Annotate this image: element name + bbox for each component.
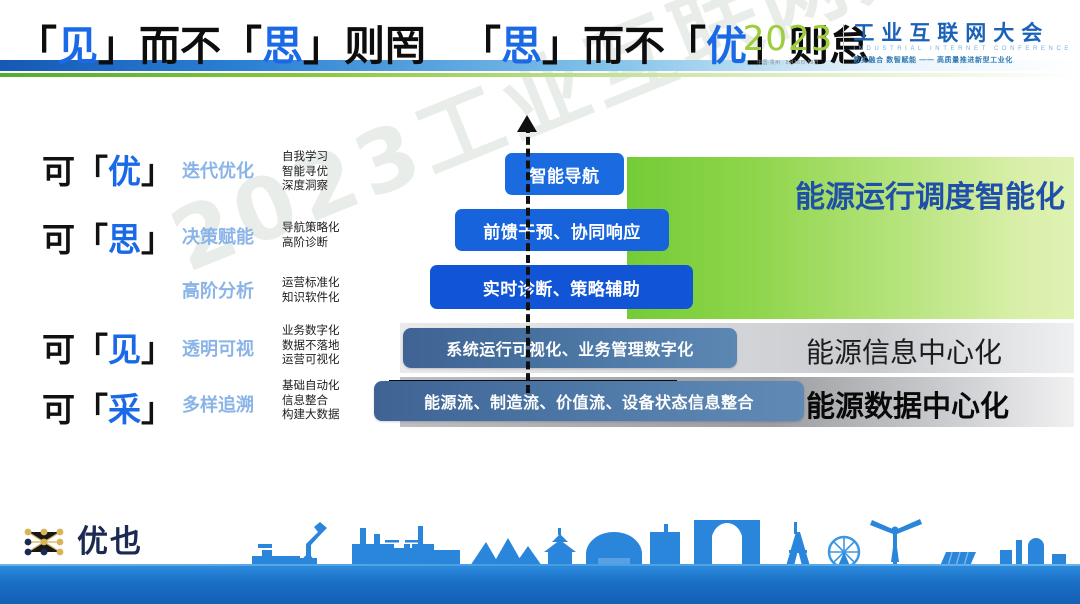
- capability-cai: 多样追溯: [182, 391, 254, 417]
- level-label-cai: 可「采」: [42, 383, 174, 431]
- details-jian: 业务数字化 数据不落地 运营可视化: [282, 323, 340, 367]
- conference-year: 2023: [743, 22, 834, 56]
- capability-gaojie: 高阶分析: [182, 277, 254, 303]
- conference-venue-date: 中国·贵州 · 8月16日-18日: [743, 59, 834, 66]
- title-mid-1: 」而不「: [98, 22, 262, 70]
- title-key-si: 思: [262, 22, 303, 70]
- conference-name-en: INDUSTRIAL INTERNET CONFERENCE: [853, 46, 1072, 52]
- conference-name-cn: 工业互联网大会: [853, 22, 1072, 44]
- title-key-si-2: 思: [501, 22, 542, 70]
- brand-name: 优也: [77, 527, 143, 558]
- detail-item: 基础自动化: [282, 378, 340, 393]
- detail-item: 高阶诊断: [282, 235, 340, 250]
- level-label-si: 可「思」: [42, 213, 174, 261]
- level-label-si-text: 可「思」: [42, 213, 174, 261]
- capability-jian: 透明可视: [182, 335, 254, 361]
- title-key-you: 优: [706, 22, 747, 70]
- level-label-you-text: 可「优」: [42, 145, 174, 193]
- brand-logo: 优也: [22, 526, 143, 558]
- detail-item: 业务数字化: [282, 323, 340, 338]
- chip-realtime-diagnosis[interactable]: 实时诊断、策略辅助: [430, 265, 693, 309]
- detail-item: 深度洞察: [282, 178, 328, 193]
- level-label-you: 可「优」: [42, 145, 174, 193]
- label-info-center: 能源信息中心化: [806, 331, 1002, 371]
- green-band-title: 能源运行调度智能化: [790, 180, 1070, 215]
- title-key-jian: 见: [57, 22, 98, 70]
- detail-item: 数据不落地: [282, 338, 340, 353]
- network-dots-icon: [22, 526, 68, 558]
- capability-you: 迭代优化: [182, 157, 254, 183]
- detail-item: 信息整合: [282, 393, 340, 408]
- details-si: 导航策略化 高阶诊断: [282, 220, 340, 249]
- conference-year-block: 2023 中国·贵州 · 8月16日-18日: [743, 22, 844, 66]
- detail-item: 运营可视化: [282, 352, 340, 367]
- title-bracket-1: 「: [16, 22, 57, 70]
- chip-intelligent-navigation[interactable]: 智能导航: [505, 153, 624, 195]
- city-skyline-icon: [0, 514, 1080, 566]
- footer-sea-band: [0, 564, 1080, 604]
- title-tail-1: 」则罔: [303, 22, 426, 70]
- detail-item: 构建大数据: [282, 407, 340, 422]
- capability-si: 决策赋能: [182, 223, 254, 249]
- label-data-center: 能源数据中心化: [806, 383, 1009, 425]
- chip-data-integration[interactable]: 能源流、制造流、价值流、设备状态信息整合: [374, 381, 804, 421]
- detail-item: 自我学习: [282, 149, 328, 164]
- chip-feedforward-intervention[interactable]: 前馈干预、协同响应: [455, 209, 669, 251]
- level-label-jian-text: 可「见」: [42, 323, 174, 371]
- detail-item: 运营标准化: [282, 275, 340, 290]
- conference-name-block: 工业互联网大会 INDUSTRIAL INTERNET CONFERENCE 数…: [853, 22, 1072, 65]
- slide-root: 2023工业互联网大会 「见」而不「思」则罔「思」而不「优」则怠 2023 中国…: [0, 0, 1080, 604]
- details-gaojie: 运营标准化 知识软件化: [282, 275, 340, 304]
- title-bracket-2: 「: [460, 22, 501, 70]
- conference-tagline: 数实融合 数智赋能 —— 高质量推进新型工业化: [853, 55, 1072, 65]
- header-rule-green: [0, 73, 1080, 77]
- diagram-body: 可「优」 可「思」 可「见」 可「采」 迭代优化 决策赋能 高阶分析 透明可视 …: [0, 95, 1080, 455]
- level-label-jian: 可「见」: [42, 323, 174, 371]
- level-label-cai-text: 可「采」: [42, 383, 174, 431]
- detail-item: 导航策略化: [282, 220, 340, 235]
- conference-logo: 2023 中国·贵州 · 8月16日-18日 工业互联网大会 INDUSTRIA…: [743, 22, 1072, 66]
- details-you: 自我学习 智能寻优 深度洞察: [282, 149, 328, 193]
- slide-footer: [0, 508, 1080, 604]
- up-arrow-dashed-line-icon: [526, 125, 530, 393]
- logo-divider: [843, 24, 844, 64]
- detail-item: 知识软件化: [282, 290, 340, 305]
- details-cai: 基础自动化 信息整合 构建大数据: [282, 378, 340, 422]
- title-mid-2: 」而不「: [542, 22, 706, 70]
- chip-system-visualization[interactable]: 系统运行可视化、业务管理数字化: [403, 328, 737, 368]
- detail-item: 智能寻优: [282, 164, 328, 179]
